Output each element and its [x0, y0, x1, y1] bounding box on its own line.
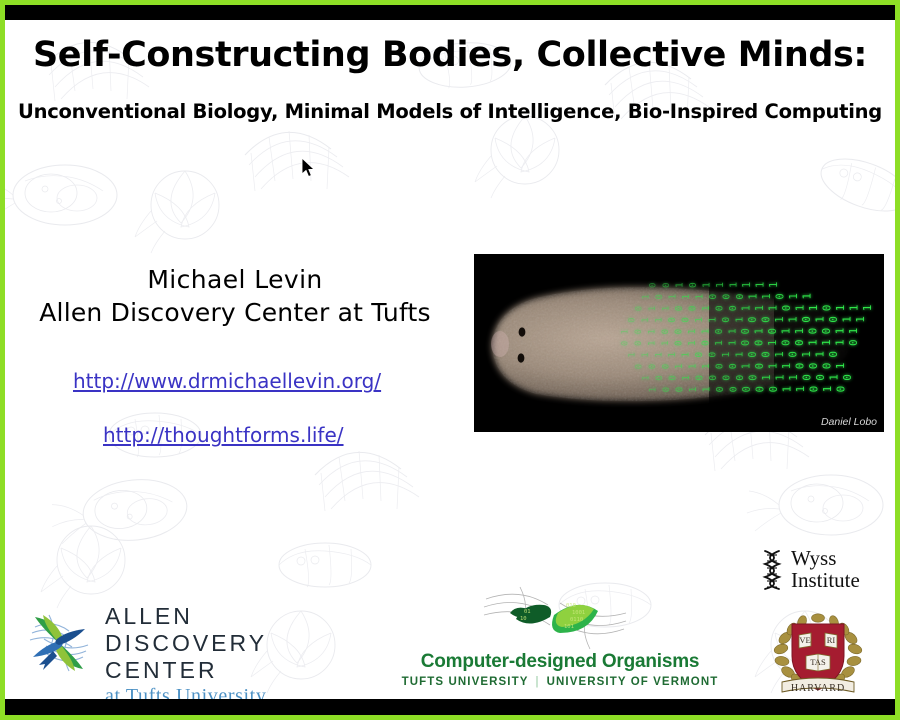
cdo-title: Computer-designed Organisms — [395, 651, 725, 673]
allen-logo-text: ALLEN DISCOVERY CENTER at Tufts Universi… — [105, 603, 373, 708]
svg-text:1: 1 — [742, 305, 753, 311]
svg-text:1: 1 — [768, 363, 780, 369]
svg-text:1: 1 — [655, 352, 665, 357]
svg-text:1: 1 — [787, 316, 800, 323]
svg-text:0: 0 — [661, 387, 672, 393]
svg-text:0110: 0110 — [570, 617, 583, 623]
svg-text:1: 1 — [755, 282, 767, 288]
svg-text:1: 1 — [807, 339, 820, 346]
svg-text:1: 1 — [814, 351, 827, 358]
svg-text:0: 0 — [780, 305, 793, 311]
cdo-institutions: TUFTS UNIVERSITY|UNIVERSITY OF VERMONT — [395, 676, 725, 688]
author-name: Michael Levin — [5, 265, 465, 294]
svg-text:0: 0 — [841, 374, 854, 381]
svg-text:1: 1 — [695, 294, 706, 300]
svg-text:1: 1 — [735, 317, 746, 323]
svg-text:1001: 1001 — [572, 610, 585, 616]
svg-text:0: 0 — [807, 363, 820, 370]
harvard-banner: HARVARD — [782, 678, 854, 694]
svg-text:1: 1 — [688, 363, 699, 369]
svg-text:0: 0 — [695, 375, 706, 381]
image-credit: Daniel Lobo — [821, 416, 877, 428]
slide-subtitle: Unconventional Biology, Minimal Models o… — [5, 100, 895, 123]
svg-text:0: 0 — [634, 341, 644, 346]
slide-title: Self-Constructing Bodies, Collective Min… — [5, 35, 895, 75]
svg-text:1: 1 — [834, 328, 847, 335]
svg-text:1: 1 — [649, 387, 659, 392]
svg-text:0: 0 — [735, 294, 746, 300]
svg-text:0: 0 — [628, 318, 638, 323]
allen-discovery-center-logo: ALLEN DISCOVERY CENTER at Tufts Universi… — [23, 603, 373, 685]
planarian-illustration: 0010111111101110001101101100100111011011… — [474, 254, 884, 432]
svg-text:1: 1 — [702, 386, 713, 392]
svg-text:0: 0 — [747, 351, 759, 357]
svg-text:1: 1 — [787, 374, 800, 381]
svg-text:0: 0 — [661, 364, 672, 370]
svg-text:1: 1 — [794, 305, 807, 312]
svg-text:1: 1 — [821, 386, 834, 393]
link-thoughtforms[interactable]: http://thoughtforms.life/ — [103, 423, 344, 447]
svg-text:0: 0 — [775, 293, 787, 299]
svg-text:0: 0 — [755, 386, 767, 392]
svg-text:0: 0 — [801, 374, 814, 381]
svg-text:1: 1 — [701, 363, 712, 369]
svg-text:0: 0 — [655, 294, 665, 299]
svg-text:1: 1 — [800, 351, 813, 358]
svg-text:1: 1 — [701, 328, 712, 334]
svg-text:0: 0 — [767, 328, 779, 334]
svg-text:0: 0 — [674, 306, 685, 312]
svg-text:1: 1 — [742, 282, 753, 288]
svg-text:1: 1 — [681, 294, 692, 300]
svg-text:0: 0 — [722, 294, 733, 300]
svg-text:101: 101 — [564, 624, 574, 630]
svg-text:0: 0 — [835, 386, 848, 393]
svg-text:0: 0 — [780, 340, 793, 346]
svg-text:1: 1 — [728, 328, 739, 334]
svg-text:0: 0 — [742, 386, 753, 392]
svg-text:1: 1 — [761, 293, 773, 299]
svg-text:0: 0 — [728, 305, 739, 311]
svg-text:0: 0 — [820, 328, 833, 335]
svg-text:0: 0 — [667, 317, 678, 323]
svg-text:0: 0 — [714, 328, 725, 334]
cdo-institution-right: UNIVERSITY OF VERMONT — [547, 676, 719, 688]
svg-text:0: 0 — [847, 339, 860, 346]
svg-text:0: 0 — [649, 283, 659, 288]
svg-text:01: 01 — [524, 609, 531, 615]
svg-text:1: 1 — [675, 282, 686, 288]
svg-text:1: 1 — [660, 340, 671, 346]
svg-text:0: 0 — [794, 363, 807, 370]
svg-text:1: 1 — [820, 339, 833, 346]
svg-text:1: 1 — [661, 306, 672, 312]
svg-text:0: 0 — [741, 328, 752, 334]
svg-text:0: 0 — [768, 386, 780, 392]
svg-text:0: 0 — [722, 375, 733, 381]
svg-text:1: 1 — [702, 282, 713, 288]
svg-text:0: 0 — [761, 317, 773, 323]
svg-text:1: 1 — [628, 352, 638, 357]
svg-text:1: 1 — [674, 364, 685, 370]
svg-text:1: 1 — [834, 339, 847, 346]
svg-text:0: 0 — [708, 294, 719, 300]
svg-text:0: 0 — [814, 374, 827, 381]
svg-text:0: 0 — [661, 282, 672, 288]
svg-text:1: 1 — [621, 329, 631, 334]
svg-text:1: 1 — [787, 293, 800, 300]
svg-text:0: 0 — [800, 316, 813, 323]
svg-text:1: 1 — [742, 363, 753, 369]
harvard-crest-logo: VE RI TAS HARVARD — [768, 604, 868, 702]
svg-text:1: 1 — [641, 317, 651, 322]
author-block: Michael Levin Allen Discovery Center at … — [5, 265, 465, 327]
top-black-bar — [5, 5, 895, 20]
svg-text:1: 1 — [735, 352, 746, 358]
svg-text:1: 1 — [681, 352, 692, 358]
presentation-slide: Self-Constructing Bodies, Collective Min… — [0, 0, 900, 720]
svg-text:1: 1 — [794, 386, 807, 393]
svg-text:0: 0 — [635, 364, 645, 369]
svg-text:0: 0 — [748, 375, 760, 381]
svg-text:10: 10 — [520, 616, 527, 622]
svg-text:1: 1 — [854, 316, 867, 323]
svg-text:1: 1 — [780, 363, 793, 369]
svg-text:0: 0 — [787, 351, 800, 358]
svg-text:1: 1 — [847, 328, 860, 335]
svg-text:1: 1 — [748, 293, 760, 299]
svg-text:0: 0 — [827, 351, 840, 358]
svg-text:0: 0 — [721, 317, 732, 323]
svg-text:0: 0 — [681, 317, 692, 323]
mouse-cursor — [301, 157, 317, 179]
svg-text:0: 0 — [660, 329, 671, 335]
svg-text:1: 1 — [768, 282, 780, 288]
allen-line-1: ALLEN — [105, 603, 373, 630]
svg-text:0: 0 — [634, 329, 644, 334]
svg-text:0: 0 — [674, 329, 685, 335]
svg-text:1: 1 — [714, 340, 725, 346]
computer-designed-organisms-logo: 0101001 0110101 0110 Computer-designed O… — [395, 593, 725, 693]
svg-text:1: 1 — [807, 305, 820, 312]
svg-text:1: 1 — [721, 352, 732, 358]
svg-text:1: 1 — [694, 317, 705, 323]
svg-text:1: 1 — [814, 316, 827, 323]
svg-text:0: 0 — [708, 375, 719, 381]
svg-text:0: 0 — [675, 386, 686, 392]
wyss-institute-logo: Wyss Institute — [757, 547, 887, 597]
svg-text:0: 0 — [741, 340, 752, 346]
svg-text:1: 1 — [761, 375, 773, 381]
svg-text:0: 0 — [668, 375, 679, 381]
svg-text:1: 1 — [648, 329, 658, 334]
svg-text:0: 0 — [808, 386, 821, 393]
svg-text:1: 1 — [768, 305, 780, 311]
svg-text:0: 0 — [701, 340, 712, 346]
svg-text:1: 1 — [648, 341, 658, 346]
cdo-institution-left: TUFTS UNIVERSITY — [402, 676, 529, 688]
svg-text:1: 1 — [641, 352, 651, 357]
svg-text:0: 0 — [635, 306, 645, 311]
svg-text:0: 0 — [821, 305, 834, 312]
xenobot-mark: 0101001 0110101 0110 — [480, 583, 630, 653]
svg-text:1: 1 — [687, 328, 698, 334]
svg-text:1: 1 — [728, 340, 739, 346]
svg-text:1: 1 — [754, 305, 766, 311]
svg-text:010: 010 — [566, 603, 576, 609]
svg-text:0: 0 — [708, 352, 719, 358]
svg-text:1: 1 — [767, 340, 779, 346]
svg-text:0: 0 — [715, 305, 726, 311]
svg-text:1: 1 — [688, 386, 699, 392]
svg-text:0: 0 — [793, 339, 806, 346]
svg-text:1: 1 — [687, 340, 698, 346]
svg-text:1: 1 — [655, 317, 665, 322]
svg-text:1: 1 — [642, 294, 652, 299]
svg-text:1: 1 — [681, 375, 692, 381]
svg-text:0: 0 — [735, 375, 746, 381]
svg-text:1: 1 — [715, 282, 726, 288]
svg-text:1: 1 — [667, 352, 678, 358]
svg-text:1: 1 — [793, 328, 806, 335]
svg-text:1: 1 — [861, 305, 874, 312]
link-drmichaellevin[interactable]: http://www.drmichaellevin.org/ — [73, 369, 381, 393]
svg-text:1: 1 — [701, 305, 712, 311]
allen-bird-mark — [23, 607, 95, 679]
svg-text:VE: VE — [799, 635, 810, 645]
svg-text:0: 0 — [688, 282, 699, 288]
svg-text:0: 0 — [761, 351, 773, 357]
svg-text:1: 1 — [729, 282, 740, 288]
wyss-line-2: Institute — [791, 569, 860, 591]
svg-text:0: 0 — [621, 341, 631, 346]
svg-text:0: 0 — [648, 364, 658, 369]
svg-text:1: 1 — [708, 317, 719, 323]
svg-text:1: 1 — [774, 351, 786, 357]
svg-text:1: 1 — [775, 374, 787, 380]
svg-text:0: 0 — [754, 363, 766, 369]
svg-text:TAS: TAS — [810, 657, 826, 667]
svg-text:1: 1 — [642, 375, 652, 380]
svg-text:1: 1 — [781, 386, 794, 392]
svg-text:0: 0 — [715, 386, 726, 392]
svg-text:0: 0 — [729, 386, 740, 392]
svg-text:1: 1 — [828, 374, 841, 381]
svg-text:1: 1 — [848, 305, 861, 312]
svg-text:0: 0 — [655, 375, 665, 380]
svg-text:0: 0 — [747, 317, 759, 323]
svg-text:1: 1 — [801, 293, 814, 300]
wyss-logo-text: Wyss Institute — [791, 547, 860, 591]
svg-text:1: 1 — [774, 316, 786, 322]
planarian-image-panel: 0010111111101110001101101100100111011011… — [474, 254, 884, 432]
wyss-line-1: Wyss — [791, 547, 860, 569]
dna-helix-icon — [757, 549, 787, 591]
svg-text:0: 0 — [688, 305, 699, 311]
svg-text:1: 1 — [841, 316, 854, 323]
svg-text:0: 0 — [674, 340, 685, 346]
bottom-black-bar — [5, 699, 895, 715]
link-row-personal-site: http://www.drmichaellevin.org/ — [73, 369, 381, 393]
svg-text:1: 1 — [780, 328, 793, 334]
harvard-banner-text: HARVARD — [791, 683, 845, 694]
author-affiliation: Allen Discovery Center at Tufts — [5, 298, 465, 327]
link-row-thoughtforms: http://thoughtforms.life/ — [103, 423, 344, 447]
svg-text:1: 1 — [754, 328, 766, 334]
svg-text:1: 1 — [834, 363, 847, 370]
svg-text:0: 0 — [754, 340, 766, 346]
cdo-divider: | — [529, 676, 547, 688]
allen-line-2: DISCOVERY CENTER — [105, 630, 373, 684]
svg-text:0: 0 — [827, 316, 840, 323]
svg-text:1: 1 — [668, 294, 679, 300]
svg-text:0: 0 — [728, 363, 739, 369]
svg-text:0: 0 — [807, 328, 820, 335]
svg-text:0: 0 — [821, 363, 834, 370]
svg-text:0: 0 — [715, 363, 726, 369]
svg-text:1: 1 — [834, 305, 847, 312]
svg-text:0: 0 — [694, 352, 705, 358]
svg-text:RI: RI — [827, 635, 836, 645]
svg-text:1: 1 — [648, 306, 658, 311]
